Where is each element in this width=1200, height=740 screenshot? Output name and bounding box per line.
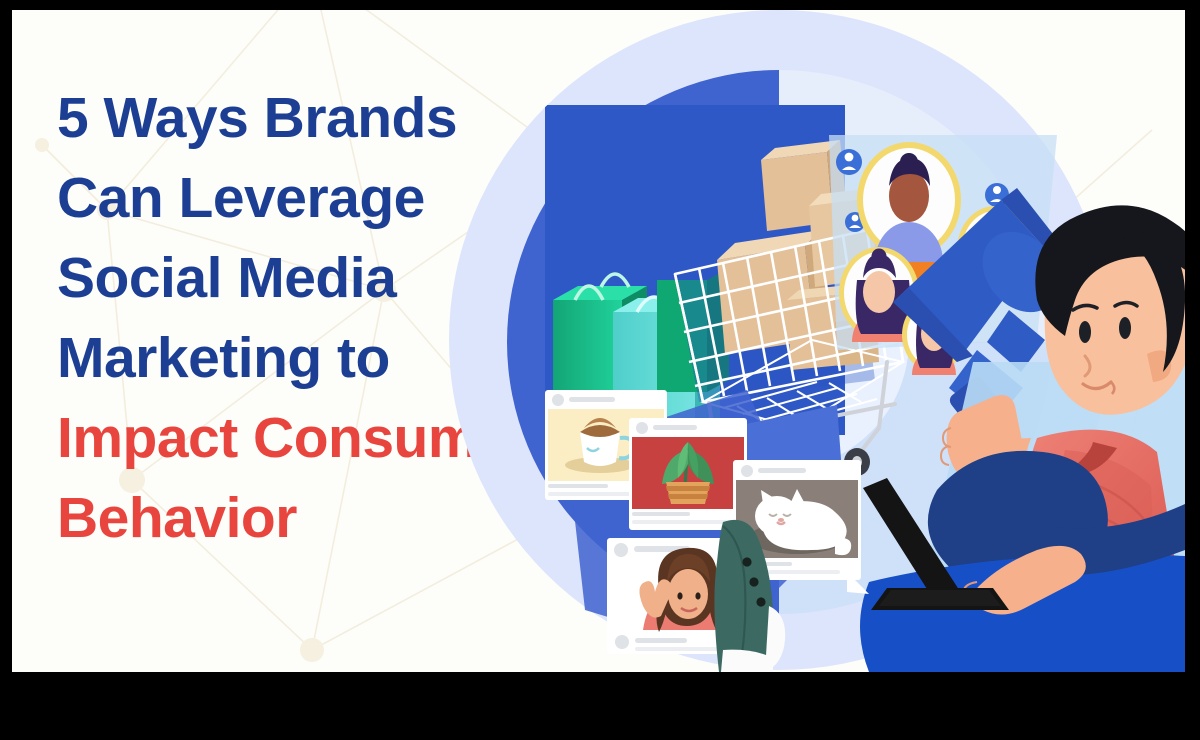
social-post-plant[interactable] (629, 418, 747, 530)
follower-badge-icon (836, 149, 862, 175)
social-media-marketing-illustration (417, 10, 1185, 672)
banner-card: 5 Ways Brands Can Leverage Social Media … (12, 10, 1185, 672)
